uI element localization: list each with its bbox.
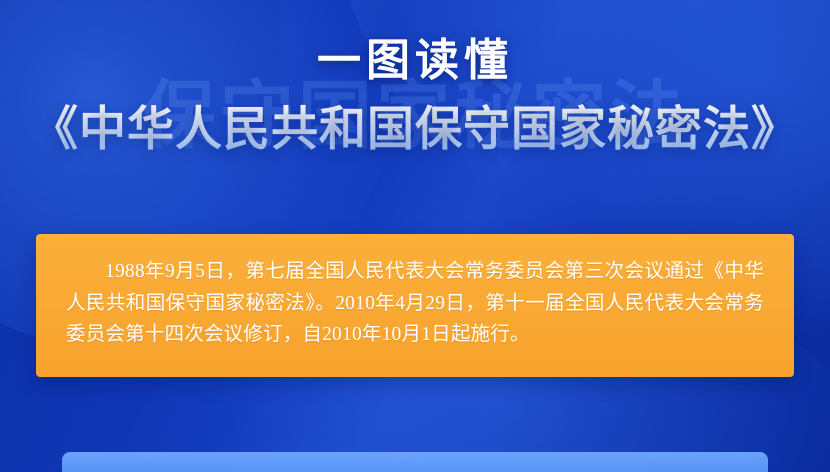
page-title-secondary: 《中华人民共和国保守国家秘密法》 (0, 100, 830, 159)
poster-canvas: 保守国家秘密法 一图读懂 《中华人民共和国保守国家秘密法》 1988年9月5日，… (0, 0, 830, 472)
page-title-primary: 一图读懂 (0, 34, 830, 88)
body-paragraph: 1988年9月5日，第七届全国人民代表大会常务委员会第三次会议通过《中华人民共和… (66, 256, 764, 351)
poster-title-block: 一图读懂 《中华人民共和国保守国家秘密法》 (0, 34, 830, 158)
body-card: 1988年9月5日，第七届全国人民代表大会常务委员会第三次会议通过《中华人民共和… (36, 234, 794, 377)
bottom-teaser-bar (62, 452, 768, 472)
